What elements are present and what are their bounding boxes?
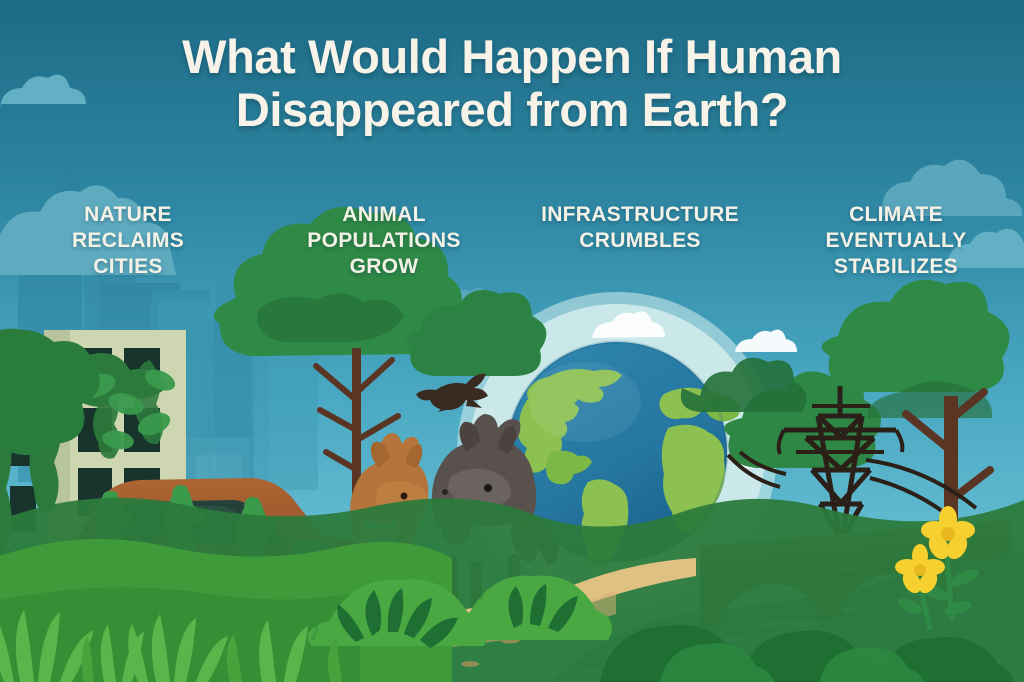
infographic-poster: What Would Happen If Human Disappeared f… — [0, 0, 1024, 682]
foreground-layer — [0, 0, 1024, 682]
